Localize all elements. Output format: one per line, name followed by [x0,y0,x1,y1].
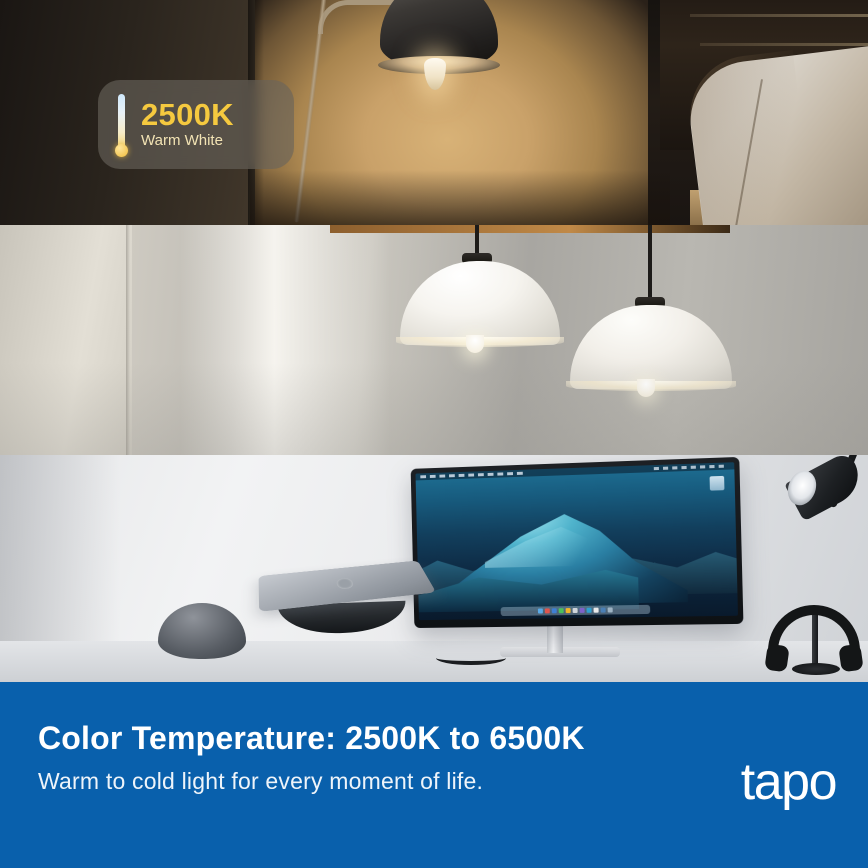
badge-texts: 2500K Warm White [141,99,234,151]
headphones-on-stand [768,605,860,665]
pillow-shadow [683,50,814,225]
dock-icon-notes[interactable] [565,608,570,613]
banner-subheading: Warm to cold light for every moment of l… [38,768,483,795]
dock-icon-podcasts[interactable] [579,608,584,613]
kelvin-value: 2500K [141,99,234,132]
dock-icon-messages[interactable] [558,608,563,613]
apple-logo-icon [336,577,355,589]
dock-icon-finder[interactable] [537,608,542,613]
banner-heading: Color Temperature: 2500K to 6500K [38,720,585,757]
desk-cable [436,651,506,665]
panel-vignette [0,225,868,455]
dock-icon-appstore[interactable] [586,608,591,613]
kelvin-label: Warm White [141,132,234,150]
dock-icon-safari[interactable] [551,608,556,613]
bottom-banner: Color Temperature: 2500K to 6500K Warm t… [0,682,868,868]
slider-knob[interactable] [115,144,128,157]
temperature-slider-icon[interactable] [116,94,127,156]
desktop-file-icon[interactable] [710,476,725,491]
desk-surface [0,641,868,682]
headphone-stand-base [792,663,840,675]
headphone-earcup-right [838,644,863,673]
ultrawide-monitor [411,457,744,628]
dock-icon-calendar[interactable] [593,608,598,613]
headboard-slat-bottom [700,43,868,46]
marketing-image: 2500K Warm White 4000K Dayl [0,0,868,868]
monitor-stand-neck [547,623,563,653]
dock-icon-mail[interactable] [600,608,605,613]
tapo-brand-logo: tapo [741,756,836,808]
dock-icon-launchpad[interactable] [544,608,549,613]
menu-bar-status-icons[interactable] [654,465,726,471]
dock-icon-settings[interactable] [572,608,577,613]
floor-shadow [250,170,670,225]
temperature-badge-warm-white[interactable]: 2500K Warm White [98,80,294,169]
headboard-slat-top [690,14,868,17]
scene-panel-warm-white: 2500K Warm White [0,0,868,225]
menu-bar-items[interactable] [420,472,526,479]
scene-panel-cool-white: 6500K Cool White [0,455,868,682]
dock-icon-trash[interactable] [607,607,612,612]
scene-panel-daylight: 4000K Daylight [0,225,868,455]
monitor-screen [415,462,738,620]
os-dock[interactable] [501,605,651,616]
